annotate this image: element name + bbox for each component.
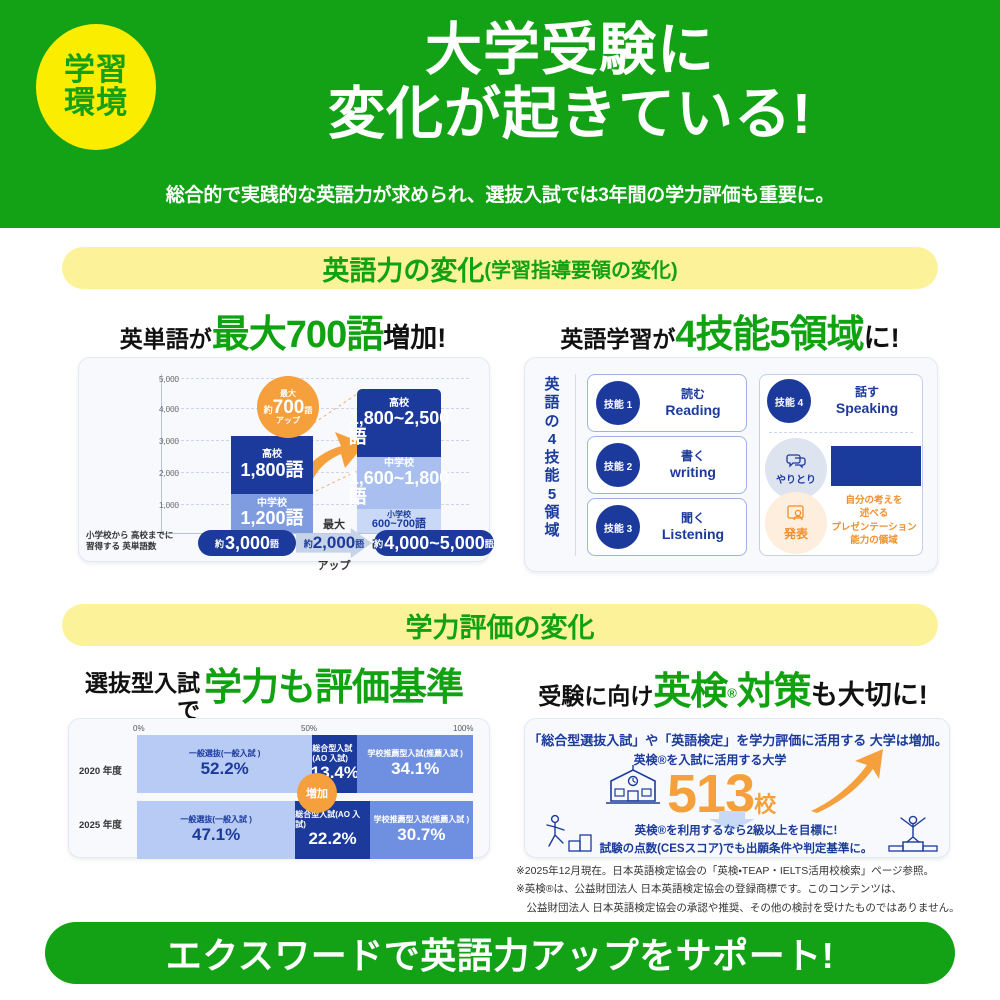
admission-chart-card: 0% 50% 100% 2020 年度 2025 年度 一般選抜(一般入試 ) … bbox=[68, 718, 490, 858]
skill-1-badge: 技能 1 bbox=[596, 381, 640, 425]
skills-card: 英語の4技能5領域 技能 1 読む Reading 技能 2 書く writin… bbox=[524, 357, 938, 572]
presentation-desc-line2: 述べる bbox=[825, 507, 923, 520]
presentation-desc-line4: 能力の領域 bbox=[825, 534, 923, 547]
delta-top-label: 最大 bbox=[296, 516, 372, 532]
bar-before-juniorhigh-value: 1,200語 bbox=[240, 509, 303, 528]
eiken-heading-highlight: 英検 bbox=[653, 671, 727, 713]
section2-banner: 学力評価の変化 bbox=[62, 604, 938, 646]
words-increase-heading: 英単語が最大700語増加! bbox=[78, 303, 488, 358]
bar-after-juniorhigh: 中学校 1,600~1,800語 bbox=[357, 457, 441, 509]
circle-badge-bottom: アップ bbox=[276, 417, 300, 425]
skill-3-text: 聞く Listening bbox=[640, 511, 746, 543]
section1-banner-main: 英語力の変化 bbox=[322, 249, 484, 288]
skill-box-4[interactable]: 技能 4 話す Speaking bbox=[759, 374, 923, 428]
eiken-bottom-line2: 試験の点数(CESスコア)でも出願条件や判定基準に。 bbox=[587, 841, 885, 859]
total-words-label-line2: 習得する 英単語数 bbox=[86, 541, 196, 552]
total-words-label: 小学校から 高校までに 習得する 英単語数 bbox=[86, 530, 196, 553]
increase-badge: 増加 bbox=[297, 773, 337, 813]
eiken-card: 「総合型選抜入試」や「英語検定」を学力評価に活用する 大学は増加。 英検®を入試… bbox=[524, 718, 950, 858]
eiken-registered-mark: ® bbox=[727, 686, 737, 701]
skill-1-jp: 読む bbox=[640, 387, 746, 402]
delta-unit: 語 bbox=[355, 537, 364, 550]
speech-bubbles-icon bbox=[786, 453, 806, 469]
page-title-line-2: 変化が起きている! bbox=[170, 82, 970, 146]
skill-box-2[interactable]: 技能 2 書く writing bbox=[587, 436, 747, 494]
interaction-desc-line1: 日常的な挨拶や bbox=[831, 446, 921, 459]
bar-2025-general-value: 47.1% bbox=[192, 825, 240, 845]
bar-after-highschool-value: 1,800~2,500語 bbox=[349, 409, 450, 447]
presentation-person-icon bbox=[786, 505, 806, 523]
bar-after-juniorhigh-value: 1,600~1,800語 bbox=[349, 469, 450, 507]
bar-2025-general: 一般選抜(一般入試 ) 47.1% bbox=[137, 801, 295, 859]
delta-number: 2,000 bbox=[313, 533, 356, 553]
eiken-heading-suffix: も大切に! bbox=[811, 680, 928, 710]
disclaimer-line-1: ※2025年12月現在。日本英語検定協会の「英検・TEAP・IELTS活用校検索… bbox=[516, 862, 986, 880]
eiken-heading-highlight2: 対策 bbox=[737, 671, 811, 713]
interaction-circle: やりとり bbox=[765, 438, 827, 500]
total-after-prefix: 約 bbox=[374, 537, 383, 550]
skill-4-jp: 話す bbox=[811, 385, 923, 400]
skill-1-text: 読む Reading bbox=[640, 387, 746, 419]
footer-cta-banner[interactable]: エクスワードで英語力アップをサポート! bbox=[45, 922, 955, 984]
circle-badge-number: 700 bbox=[273, 397, 305, 418]
skill-box-3[interactable]: 技能 3 聞く Listening bbox=[587, 498, 747, 556]
bar-before-highschool: 高校 1,800語 bbox=[231, 436, 313, 494]
bar-2020-recommendation: 学校推薦型入試(推薦入試 ) 34.1% bbox=[357, 735, 473, 793]
eiken-count-unit: 校 bbox=[754, 792, 775, 817]
page-title: 大学受験に 変化が起きている! bbox=[170, 18, 970, 147]
bar-2025-general-label: 一般選抜(一般入試 ) bbox=[180, 815, 252, 825]
words-heading-highlight: 最大700語 bbox=[212, 314, 383, 356]
bar-before-highschool-value: 1,800語 bbox=[240, 461, 303, 480]
skill-4-text: 話す Speaking bbox=[811, 385, 923, 417]
badge-line-1: 学習 bbox=[64, 54, 128, 87]
eiken-heading-prefix: 受験に向け bbox=[538, 683, 653, 709]
section1-banner-sub: (学習指導要領の変化) bbox=[484, 254, 677, 283]
presentation-label: 発表 bbox=[784, 525, 808, 542]
bar-2020-general-label: 一般選抜(一般入試 ) bbox=[189, 749, 261, 759]
max-increase-circle-badge: 最大 約700語 アップ bbox=[257, 376, 319, 438]
skill-3-en: Listening bbox=[640, 526, 746, 543]
skill-4-badge: 技能 4 bbox=[767, 379, 811, 423]
skill-2-en: writing bbox=[640, 464, 746, 481]
xtick-100: 100% bbox=[453, 724, 473, 733]
bar-2025-recommendation-label: 学校推薦型入試(推薦入試 ) bbox=[374, 815, 470, 825]
person-on-podium-icon bbox=[887, 811, 941, 853]
skills-heading-suffix: に! bbox=[864, 323, 900, 353]
year-label-2025: 2025 年度 bbox=[79, 817, 122, 831]
badge-line-2: 環境 bbox=[64, 87, 128, 120]
presentation-desc-line3: プレゼンテーション bbox=[825, 521, 923, 534]
presentation-desc-line1: 自分の考えを bbox=[825, 494, 923, 507]
xtick-50: 50% bbox=[301, 724, 317, 733]
bar-2025-comprehensive-value: 22.2% bbox=[308, 829, 356, 849]
skill-2-text: 書く writing bbox=[640, 449, 746, 481]
total-words-label-line1: 小学校から 高校までに bbox=[86, 530, 196, 541]
year-label-2020: 2020 年度 bbox=[79, 763, 122, 777]
interaction-description: 日常的な挨拶や 会話能力などの 領域 bbox=[831, 446, 921, 486]
infographic-page: 学習 環境 大学受験に 変化が起きている! 総合的で実践的な英語力が求められ、選… bbox=[0, 0, 1000, 1000]
page-title-line-1: 大学受験に bbox=[170, 18, 970, 82]
bar-2020-recommendation-label: 学校推薦型入試(推薦入試 ) bbox=[367, 749, 463, 759]
bar-2020-general-value: 52.2% bbox=[201, 759, 249, 779]
interaction-desc-line2: 会話能力などの bbox=[831, 459, 921, 472]
words-heading-prefix: 英単語が bbox=[120, 326, 212, 352]
presentation-description: 自分の考えを 述べる プレゼンテーション 能力の領域 bbox=[825, 494, 923, 547]
bar-2020-general: 一般選抜(一般入試 ) 52.2% bbox=[137, 735, 312, 793]
disclaimer-line-2: ※英検®は、公益財団法人 日本英語検定協会の登録商標です。このコンテンツは、 bbox=[516, 880, 986, 898]
delta-prefix: 約 bbox=[304, 537, 313, 550]
category-badge: 学習 環境 bbox=[36, 24, 156, 150]
skill-2-badge: 技能 2 bbox=[596, 443, 640, 487]
total-before-number: 3,000 bbox=[225, 533, 270, 554]
rising-arrow-icon bbox=[807, 747, 891, 815]
bar-2020-recommendation-value: 34.1% bbox=[391, 759, 439, 779]
total-before-unit: 語 bbox=[270, 537, 279, 550]
academic-heading-line1: 選抜型入試で bbox=[85, 670, 200, 723]
footer-cta-text: エクスワードで英語力アップをサポート! bbox=[166, 927, 834, 979]
bar-after-highschool: 高校 1,800~2,500語 bbox=[357, 389, 441, 457]
xtick-0: 0% bbox=[133, 724, 145, 733]
eiken-bottom-note: 英検®を利用するなら2級以上を目標に! 試験の点数(CESスコア)でも出願条件や… bbox=[587, 823, 885, 859]
skills-vertical-label: 英語の4技能5領域 bbox=[539, 376, 565, 541]
interaction-desc-line3: 領域 bbox=[831, 473, 921, 486]
total-before-pill: 約3,000語 bbox=[198, 530, 296, 556]
skill-2-jp: 書く bbox=[640, 449, 746, 464]
interaction-label: やりとり bbox=[776, 471, 816, 486]
page-header: 学習 環境 大学受験に 変化が起きている! 総合的で実践的な英語力が求められ、選… bbox=[0, 0, 1000, 228]
disclaimer-block: ※2025年12月現在。日本英語検定協会の「英検・TEAP・IELTS活用校検索… bbox=[516, 862, 986, 917]
circle-badge-prefix: 約 bbox=[264, 405, 273, 415]
disclaimer-line-3: 公益財団法人 日本英語検定協会の承認や推奨、その他の検討を受けたものではありませ… bbox=[516, 899, 986, 917]
total-after-pill: 約4,000~5,000語 bbox=[374, 530, 494, 556]
skills-heading-prefix: 英語学習が bbox=[560, 326, 675, 352]
total-after-number: 4,000~5,000 bbox=[384, 533, 485, 554]
skills-divider bbox=[575, 374, 576, 556]
page-subtitle: 総合的で実践的な英語力が求められ、選抜入試では3年間の学力評価も重要に。 bbox=[60, 180, 940, 207]
bar-2025-recommendation: 学校推薦型入試(推薦入試 ) 30.7% bbox=[370, 801, 473, 859]
skill-box-1[interactable]: 技能 1 読む Reading bbox=[587, 374, 747, 432]
skill-3-badge: 技能 3 bbox=[596, 505, 640, 549]
eiken-heading: 受験に向け英検®対策も大切に! bbox=[516, 660, 950, 715]
total-before-prefix: 約 bbox=[215, 537, 224, 550]
bar-after: 高校 1,800~2,500語 中学校 1,600~1,800語 小学校 600… bbox=[357, 389, 441, 533]
section2-banner-main: 学力評価の変化 bbox=[406, 606, 595, 645]
skills-heading-highlight: 4技能5領域 bbox=[675, 314, 863, 356]
school-building-icon bbox=[603, 765, 663, 807]
skill-panel-divider bbox=[769, 432, 913, 433]
words-bar-chart: 1,000 2,000 3,000 4,000 5,000 bbox=[139, 374, 469, 534]
bar-2025-comprehensive-label: 総合型入試(AO 入試) bbox=[295, 810, 370, 829]
presentation-circle: 発表 bbox=[765, 492, 827, 554]
eiken-bottom-line1: 英検®を利用するなら2級以上を目標に! bbox=[587, 823, 885, 841]
skills-heading: 英語学習が4技能5領域に! bbox=[520, 303, 940, 358]
skill-4-en: Speaking bbox=[811, 400, 923, 417]
bar-2025-recommendation-value: 30.7% bbox=[397, 825, 445, 845]
skill-3-jp: 聞く bbox=[640, 511, 746, 526]
circle-badge-unit: 語 bbox=[304, 406, 312, 415]
skill-1-en: Reading bbox=[640, 402, 746, 419]
section1-banner: 英語力の変化 (学習指導要領の変化) bbox=[62, 247, 938, 289]
words-heading-suffix: 増加! bbox=[383, 323, 446, 353]
bar-2020-comprehensive-label: 総合型入試(AO 入試) bbox=[312, 744, 357, 763]
delta-bottom-label: アップ bbox=[296, 557, 372, 573]
total-after-unit: 語 bbox=[485, 537, 494, 550]
